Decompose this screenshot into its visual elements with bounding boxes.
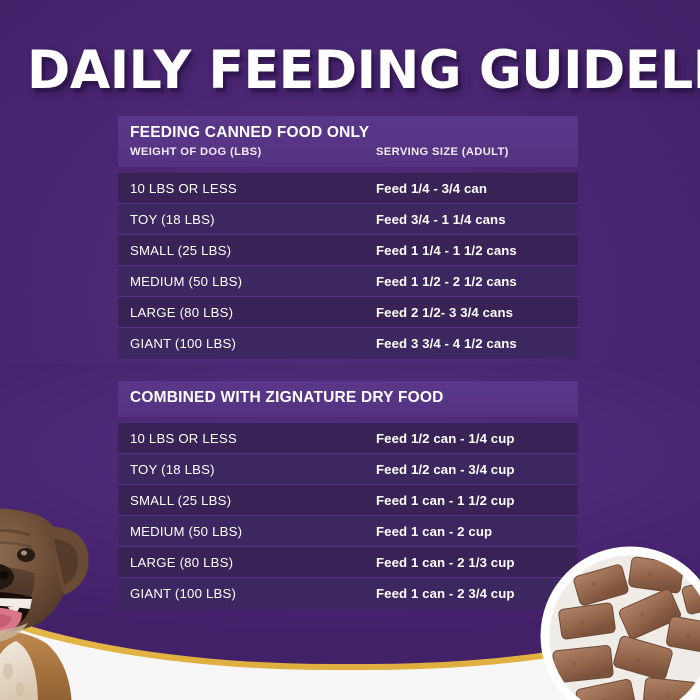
table-row: 10 LBS OR LESS Feed 1/4 - 3/4 can xyxy=(118,173,578,204)
cell-serving: Feed 3/4 - 1 1/4 cans xyxy=(376,212,566,227)
cell-weight: 10 LBS OR LESS xyxy=(130,431,376,446)
cell-serving: Feed 1 1/2 - 2 1/2 cans xyxy=(376,274,566,289)
dog-food-bowl-photo xyxy=(538,544,700,700)
table-row: MEDIUM (50 LBS) Feed 1 can - 2 cup xyxy=(118,516,578,547)
cell-serving: Feed 2 1/2- 3 3/4 cans xyxy=(376,305,566,320)
table-body-canned: 10 LBS OR LESS Feed 1/4 - 3/4 can TOY (1… xyxy=(118,173,578,359)
page-title: DAILY FEEDING GUIDELINES xyxy=(27,42,700,100)
cell-weight: MEDIUM (50 LBS) xyxy=(130,274,376,289)
cell-serving: Feed 1 can - 1 1/2 cup xyxy=(376,493,566,508)
cell-serving: Feed 1 can - 2 cup xyxy=(376,524,566,539)
table-row: 10 LBS OR LESS Feed 1/2 can - 1/4 cup xyxy=(118,423,578,454)
table-row: SMALL (25 LBS) Feed 1 1/4 - 1 1/2 cans xyxy=(118,235,578,266)
table-row: LARGE (80 LBS) Feed 1 can - 2 1/3 cup xyxy=(118,547,578,578)
table-body-combined: 10 LBS OR LESS Feed 1/2 can - 1/4 cup TO… xyxy=(118,423,578,609)
section-canned-food: FEEDING CANNED FOOD ONLY WEIGHT OF DOG (… xyxy=(118,116,578,359)
column-header-serving: SERVING SIZE (ADULT) xyxy=(376,145,566,160)
cell-serving: Feed 1/2 can - 3/4 cup xyxy=(376,462,566,477)
cell-serving: Feed 1/4 - 3/4 can xyxy=(376,181,566,196)
cell-weight: LARGE (80 LBS) xyxy=(130,305,376,320)
cell-weight: MEDIUM (50 LBS) xyxy=(130,524,376,539)
cell-weight: GIANT (100 LBS) xyxy=(130,336,376,351)
cell-weight: 10 LBS OR LESS xyxy=(130,181,376,196)
section-header-combined: COMBINED WITH ZIGNATURE DRY FOOD xyxy=(118,381,578,417)
cell-serving: Feed 1/2 can - 1/4 cup xyxy=(376,431,566,446)
cell-weight: TOY (18 LBS) xyxy=(130,212,376,227)
cell-serving: Feed 1 1/4 - 1 1/2 cans xyxy=(376,243,566,258)
cell-weight: SMALL (25 LBS) xyxy=(130,493,376,508)
cell-weight: SMALL (25 LBS) xyxy=(130,243,376,258)
column-headers: WEIGHT OF DOG (LBS) SERVING SIZE (ADULT) xyxy=(130,145,566,164)
section-header-canned: FEEDING CANNED FOOD ONLY WEIGHT OF DOG (… xyxy=(118,116,578,167)
cell-weight: GIANT (100 LBS) xyxy=(130,586,376,601)
feeding-tables: FEEDING CANNED FOOD ONLY WEIGHT OF DOG (… xyxy=(118,116,578,619)
feeding-guidelines-poster: DAILY FEEDING GUIDELINES FEEDING CANNED … xyxy=(0,0,700,700)
boxer-dog-photo xyxy=(0,491,152,700)
table-row: LARGE (80 LBS) Feed 2 1/2- 3 3/4 cans xyxy=(118,297,578,328)
cell-serving: Feed 3 3/4 - 4 1/2 cans xyxy=(376,336,566,351)
table-row: GIANT (100 LBS) Feed 3 3/4 - 4 1/2 cans xyxy=(118,328,578,359)
section-title: FEEDING CANNED FOOD ONLY xyxy=(130,123,566,142)
section-title: COMBINED WITH ZIGNATURE DRY FOOD xyxy=(130,388,566,407)
section-combined-dry-food: COMBINED WITH ZIGNATURE DRY FOOD 10 LBS … xyxy=(118,381,578,609)
table-row: MEDIUM (50 LBS) Feed 1 1/2 - 2 1/2 cans xyxy=(118,266,578,297)
column-header-weight: WEIGHT OF DOG (LBS) xyxy=(130,145,376,160)
cell-weight: TOY (18 LBS) xyxy=(130,462,376,477)
table-row: TOY (18 LBS) Feed 1/2 can - 3/4 cup xyxy=(118,454,578,485)
cell-weight: LARGE (80 LBS) xyxy=(130,555,376,570)
table-row: TOY (18 LBS) Feed 3/4 - 1 1/4 cans xyxy=(118,204,578,235)
table-row: SMALL (25 LBS) Feed 1 can - 1 1/2 cup xyxy=(118,485,578,516)
table-row: GIANT (100 LBS) Feed 1 can - 2 3/4 cup xyxy=(118,578,578,609)
